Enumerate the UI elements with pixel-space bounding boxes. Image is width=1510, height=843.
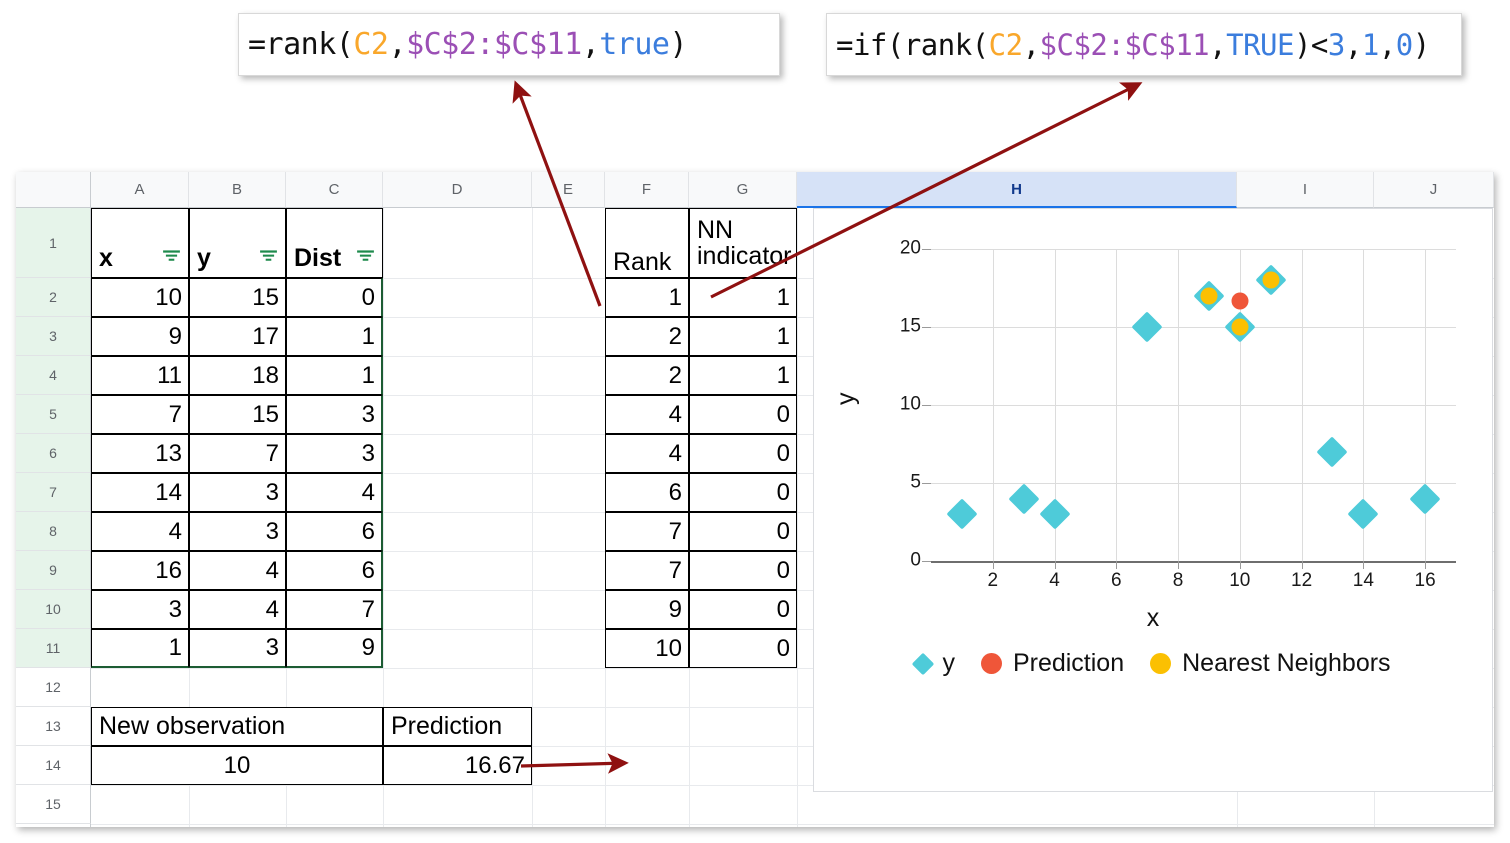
column-header-j[interactable]: J xyxy=(1374,172,1494,208)
column-header-b[interactable]: B xyxy=(189,172,286,208)
cell-y-7[interactable]: 3 xyxy=(189,473,286,512)
cell-dist-11[interactable]: 9 xyxy=(286,629,383,668)
row-header-9[interactable]: 9 xyxy=(16,551,91,590)
chart-point-nearest-neighbors xyxy=(1200,287,1217,304)
chart-tickmark-x xyxy=(1425,561,1426,569)
formula-cell-ref: C2 xyxy=(353,27,388,62)
cell-x-10[interactable]: 3 xyxy=(91,590,189,629)
chart-gridline-y xyxy=(931,249,1456,250)
chart-tickmark-y xyxy=(922,327,931,328)
cell-nn-7[interactable]: 0 xyxy=(689,473,797,512)
cell-y-3[interactable]: 17 xyxy=(189,317,286,356)
formula-callout-nn-indicator: =if(rank(C2,$C$2:$C$11,TRUE)<3,1,0) xyxy=(826,13,1462,76)
cell-nn-8[interactable]: 0 xyxy=(689,512,797,551)
chart-tickmark-y xyxy=(922,483,931,484)
gridline xyxy=(532,208,533,827)
chart-point-nearest-neighbors xyxy=(1262,272,1279,289)
formula-text-part: , xyxy=(1379,28,1396,62)
cell-y-11[interactable]: 3 xyxy=(189,629,286,668)
chart-point-y xyxy=(1132,311,1163,342)
chart-ytick-label: 10 xyxy=(900,394,921,416)
formula-number: 0 xyxy=(1396,28,1413,62)
cell-x-4[interactable]: 11 xyxy=(91,356,189,395)
chart-point-y xyxy=(1348,499,1379,530)
chart-ytick-label: 5 xyxy=(910,472,921,494)
cell-nn-10[interactable]: 0 xyxy=(689,590,797,629)
chart-point-y xyxy=(1039,499,1070,530)
cell-x-6[interactable]: 13 xyxy=(91,434,189,473)
formula-cell-ref: C2 xyxy=(989,28,1023,62)
cell-rank-6[interactable]: 4 xyxy=(605,434,689,473)
chart-xtick-label: 8 xyxy=(1173,570,1184,592)
row-header-16[interactable]: 16 xyxy=(16,824,91,827)
chart-point-y xyxy=(1410,483,1441,514)
chart-xtick-label: 10 xyxy=(1229,570,1250,592)
chart-tickmark-y xyxy=(922,561,931,562)
formula-text-part: , xyxy=(582,27,600,62)
column-header-g[interactable]: G xyxy=(689,172,797,208)
row-header-1[interactable]: 1 xyxy=(16,208,91,278)
chart-point-y xyxy=(1008,483,1039,514)
chart-tickmark-x xyxy=(1178,561,1179,569)
chart-tickmark-x xyxy=(1363,561,1364,569)
legend-label: y xyxy=(942,649,955,678)
row-header-8[interactable]: 8 xyxy=(16,512,91,551)
cell-dist-7[interactable]: 4 xyxy=(286,473,383,512)
row-header-15[interactable]: 15 xyxy=(16,785,91,824)
legend-item-prediction[interactable]: Prediction xyxy=(981,649,1124,678)
legend-marker-circle xyxy=(1150,653,1171,674)
legend-marker-diamond xyxy=(912,652,935,675)
nn-header-line2: indicator xyxy=(697,243,792,269)
cell-y-10[interactable]: 4 xyxy=(189,590,286,629)
chart-tickmark-y xyxy=(922,405,931,406)
column-header-a[interactable]: A xyxy=(91,172,189,208)
cell-y-2[interactable]: 15 xyxy=(189,278,286,317)
legend-item-nearest-neighbors[interactable]: Nearest Neighbors xyxy=(1150,649,1390,678)
formula-keyword: true xyxy=(599,27,669,62)
cell-rank-4[interactable]: 2 xyxy=(605,356,689,395)
cell-y-4[interactable]: 18 xyxy=(189,356,286,395)
chart-gridline-x xyxy=(1178,249,1179,561)
cell-rank-9[interactable]: 7 xyxy=(605,551,689,590)
formula-number: 1 xyxy=(1362,28,1379,62)
formula-text-part: , xyxy=(1023,28,1040,62)
chart-gridline-x xyxy=(1425,249,1426,561)
formula-text-part: , xyxy=(1209,28,1226,62)
cell-y-5[interactable]: 15 xyxy=(189,395,286,434)
chart-tickmark-x xyxy=(1302,561,1303,569)
filter-icon[interactable] xyxy=(356,249,375,263)
row-header-5[interactable]: 5 xyxy=(16,395,91,434)
row-header-13[interactable]: 13 xyxy=(16,707,91,746)
row-header-7[interactable]: 7 xyxy=(16,473,91,512)
cell-x-5[interactable]: 7 xyxy=(91,395,189,434)
formula-text-part: =if(rank( xyxy=(836,28,989,62)
column-header-row: ABCDEFGHIJ xyxy=(16,172,1494,208)
chart-plot-area: 05101520246810121416 xyxy=(931,249,1456,561)
chart-y-axis-label: y xyxy=(832,393,861,406)
row-header-11[interactable]: 11 xyxy=(16,629,91,668)
column-header-e[interactable]: E xyxy=(532,172,605,208)
row-header-4[interactable]: 4 xyxy=(16,356,91,395)
filter-icon[interactable] xyxy=(259,249,278,263)
header-cell-y[interactable]: y xyxy=(189,208,286,278)
cell-dist-5[interactable]: 3 xyxy=(286,395,383,434)
value-prediction[interactable]: 16.67 xyxy=(383,746,532,785)
row-header-3[interactable]: 3 xyxy=(16,317,91,356)
column-header-c[interactable]: C xyxy=(286,172,383,208)
gridline xyxy=(797,208,798,827)
formula-number: 3 xyxy=(1328,28,1345,62)
formula-text-part: ) xyxy=(670,27,688,62)
formula-text-part: , xyxy=(1345,28,1362,62)
header-cell-nn-indicator[interactable]: NNindicator xyxy=(689,208,797,278)
row-header-6[interactable]: 6 xyxy=(16,434,91,473)
cell-dist-4[interactable]: 1 xyxy=(286,356,383,395)
cell-nn-3[interactable]: 1 xyxy=(689,317,797,356)
chart-xtick-label: 16 xyxy=(1415,570,1436,592)
cell-nn-5[interactable]: 0 xyxy=(689,395,797,434)
chart-point-prediction xyxy=(1231,292,1248,309)
chart-gridline-x xyxy=(1302,249,1303,561)
cell-x-8[interactable]: 4 xyxy=(91,512,189,551)
row-header-12[interactable]: 12 xyxy=(16,668,91,707)
nn-header-line1: NN xyxy=(697,217,733,243)
chart-x-axis-label: x xyxy=(814,604,1492,633)
chart-tickmark-x xyxy=(1055,561,1056,569)
cell-x-9[interactable]: 16 xyxy=(91,551,189,590)
cell-rank-5[interactable]: 4 xyxy=(605,395,689,434)
label-prediction[interactable]: Prediction xyxy=(383,707,532,746)
chart-point-y xyxy=(946,499,977,530)
chart-gridline-x xyxy=(1116,249,1117,561)
cell-y-8[interactable]: 3 xyxy=(189,512,286,551)
formula-callout-rank: =rank(C2,$C$2:$C$11,true) xyxy=(238,13,780,76)
formula-text-part: ) xyxy=(1413,28,1430,62)
chart-point-y xyxy=(1317,436,1348,467)
legend-item-y[interactable]: y xyxy=(915,649,955,678)
cell-rank-3[interactable]: 2 xyxy=(605,317,689,356)
column-header-h[interactable]: H xyxy=(797,172,1237,208)
chart-gridline-y xyxy=(931,483,1456,484)
filter-icon[interactable] xyxy=(162,249,181,263)
cell-rank-11[interactable]: 10 xyxy=(605,629,689,668)
cell-nn-4[interactable]: 1 xyxy=(689,356,797,395)
chart-legend: yPredictionNearest Neighbors xyxy=(814,649,1492,678)
column-header-d[interactable]: D xyxy=(383,172,532,208)
cell-dist-8[interactable]: 6 xyxy=(286,512,383,551)
column-header-i[interactable]: I xyxy=(1237,172,1374,208)
cell-x-11[interactable]: 1 xyxy=(91,629,189,668)
cell-rank-10[interactable]: 9 xyxy=(605,590,689,629)
chart-gridline-x xyxy=(993,249,994,561)
chart-xtick-label: 12 xyxy=(1291,570,1312,592)
cell-x-3[interactable]: 9 xyxy=(91,317,189,356)
cell-dist-9[interactable]: 6 xyxy=(286,551,383,590)
formula-range-ref: $C$2:$C$11 xyxy=(1040,28,1210,62)
chart-ytick-label: 15 xyxy=(900,316,921,338)
cell-x-2[interactable]: 10 xyxy=(91,278,189,317)
cell-rank-7[interactable]: 6 xyxy=(605,473,689,512)
row-header-2[interactable]: 2 xyxy=(16,278,91,317)
cell-rank-2[interactable]: 1 xyxy=(605,278,689,317)
chart-tickmark-x xyxy=(1116,561,1117,569)
spreadsheet-window[interactable]: ABCDEFGHIJ 12345678910111213141516 xyDis… xyxy=(16,172,1494,827)
row-header-14[interactable]: 14 xyxy=(16,746,91,785)
cell-dist-10[interactable]: 7 xyxy=(286,590,383,629)
cell-dist-3[interactable]: 1 xyxy=(286,317,383,356)
formula-text-part: )< xyxy=(1294,28,1328,62)
cell-x-7[interactable]: 14 xyxy=(91,473,189,512)
chart-tickmark-x xyxy=(993,561,994,569)
legend-marker-circle xyxy=(981,653,1002,674)
cell-dist-2[interactable]: 0 xyxy=(286,278,383,317)
cell-y-6[interactable]: 7 xyxy=(189,434,286,473)
column-header-f[interactable]: F xyxy=(605,172,689,208)
legend-label: Nearest Neighbors xyxy=(1182,649,1390,678)
legend-label: Prediction xyxy=(1013,649,1124,678)
cell-nn-2[interactable]: 1 xyxy=(689,278,797,317)
chart-ytick-label: 0 xyxy=(910,550,921,572)
gridline xyxy=(91,824,1494,825)
chart-tickmark-y xyxy=(922,249,931,250)
formula-keyword: TRUE xyxy=(1226,28,1294,62)
formula-text-part: , xyxy=(389,27,407,62)
chart-xtick-label: 14 xyxy=(1353,570,1374,592)
header-cell-dist[interactable]: Dist xyxy=(286,208,383,278)
chart-xtick-label: 6 xyxy=(1111,570,1122,592)
chart-xtick-label: 4 xyxy=(1049,570,1060,592)
chart-gridline-y xyxy=(931,327,1456,328)
scatter-chart[interactable]: 05101520246810121416 y x yPredictionNear… xyxy=(813,208,1493,792)
cell-y-9[interactable]: 4 xyxy=(189,551,286,590)
cell-dist-6[interactable]: 3 xyxy=(286,434,383,473)
chart-xtick-label: 2 xyxy=(987,570,998,592)
label-new-observation[interactable]: New observation xyxy=(91,707,383,746)
chart-ytick-label: 20 xyxy=(900,238,921,260)
chart-point-nearest-neighbors xyxy=(1231,319,1248,336)
cell-nn-9[interactable]: 0 xyxy=(689,551,797,590)
cell-rank-8[interactable]: 7 xyxy=(605,512,689,551)
chart-gridline-y xyxy=(931,405,1456,406)
header-cell-rank[interactable]: Rank xyxy=(605,208,689,278)
formula-text-part: =rank( xyxy=(248,27,353,62)
formula-range-ref: $C$2:$C$11 xyxy=(406,27,582,62)
cell-nn-6[interactable]: 0 xyxy=(689,434,797,473)
header-cell-x[interactable]: x xyxy=(91,208,189,278)
cell-nn-11[interactable]: 0 xyxy=(689,629,797,668)
value-new-observation[interactable]: 10 xyxy=(91,746,383,785)
row-header-10[interactable]: 10 xyxy=(16,590,91,629)
chart-gridline-y xyxy=(931,561,1456,563)
chart-tickmark-x xyxy=(1240,561,1241,569)
